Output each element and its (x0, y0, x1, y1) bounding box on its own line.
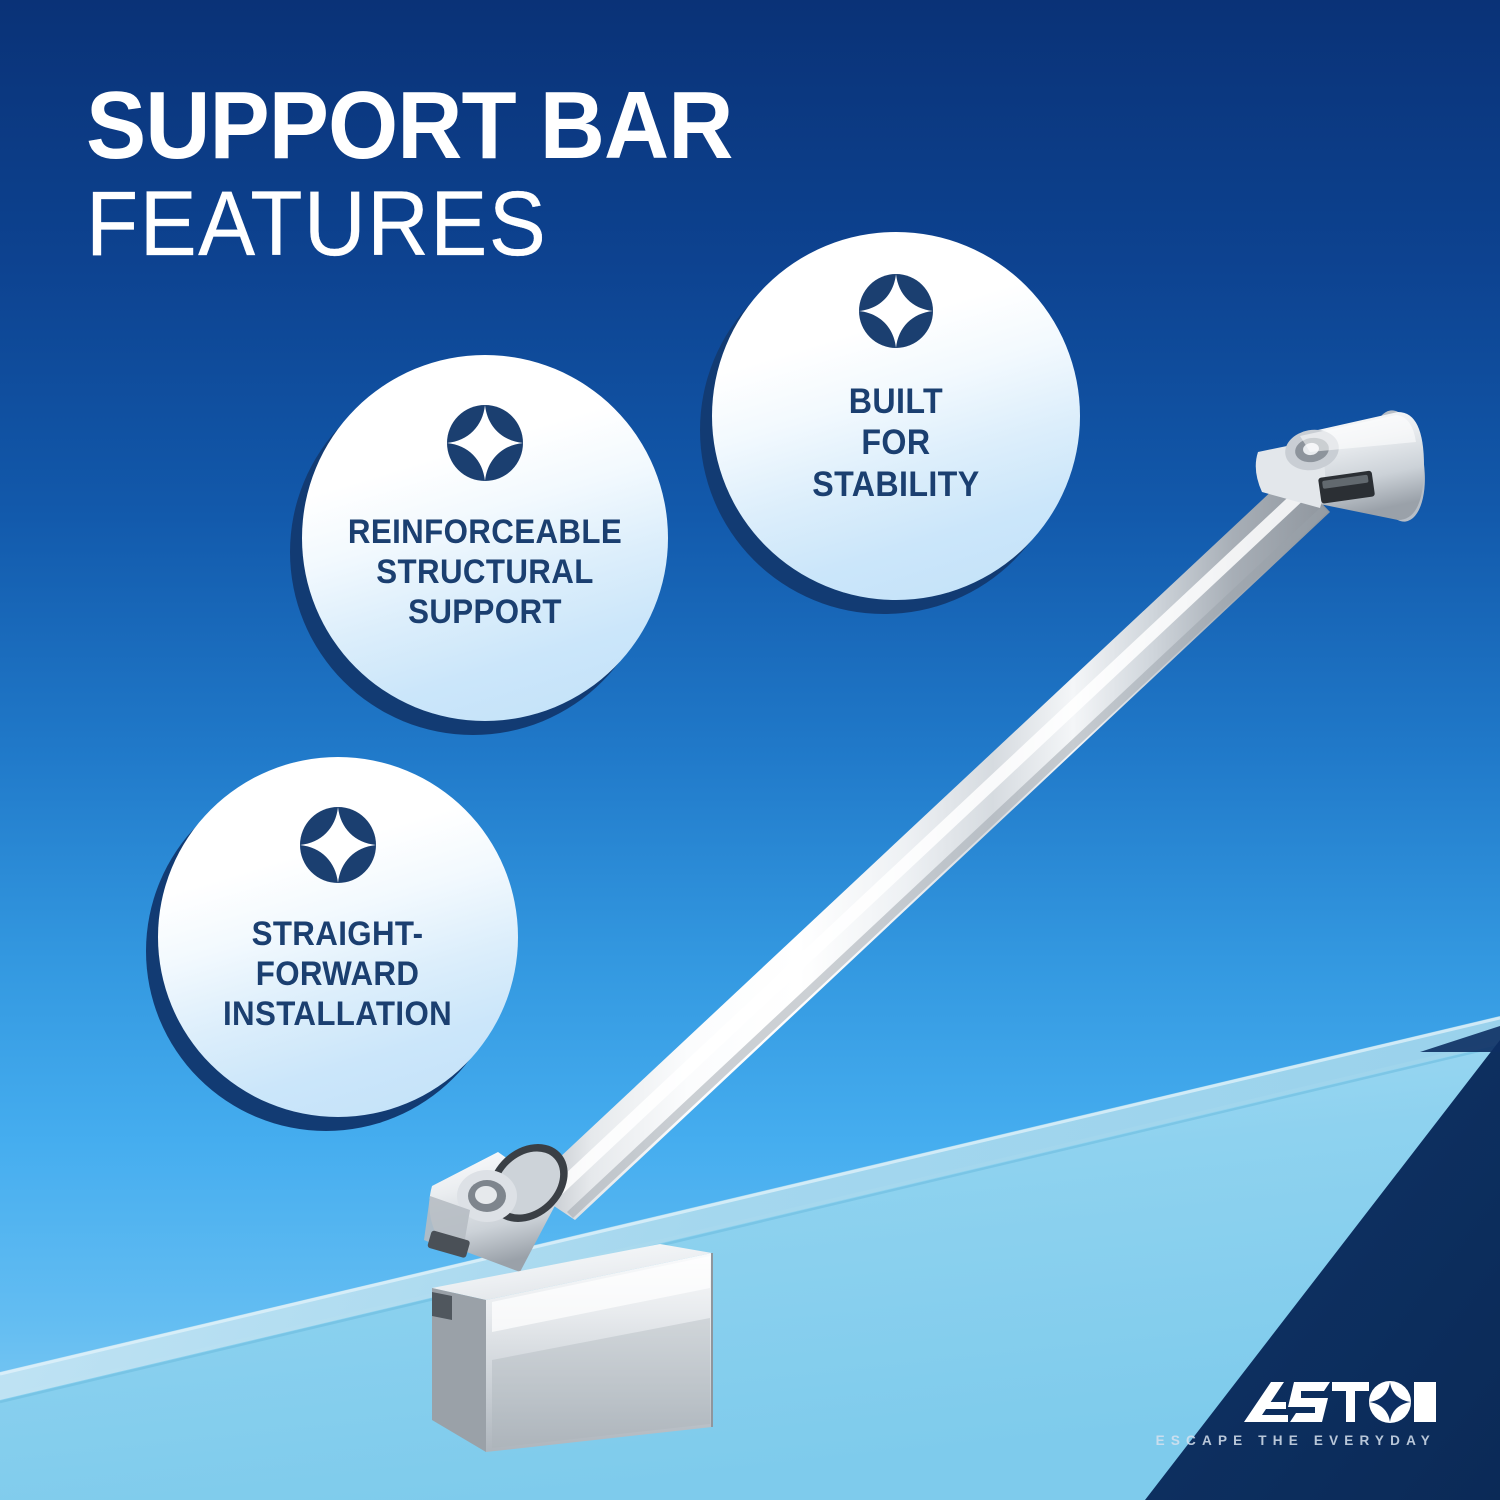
feature-label: REINFORCEABLE STRUCTURAL SUPPORT (348, 512, 622, 632)
brand-logo[interactable]: ESCAPE THE EVERYDAY (1156, 1380, 1438, 1448)
four-point-star-icon (447, 405, 523, 486)
feature-label: STRAIGHT- FORWARD INSTALLATION (223, 914, 452, 1034)
page-title: SUPPORT BAR FEATURES (86, 78, 774, 272)
four-point-star-icon (300, 807, 376, 888)
four-point-star-icon (859, 274, 933, 353)
infographic-canvas: SUPPORT BAR FEATURES BUILT FOR STABILITY (0, 0, 1500, 1500)
aston-wordmark (1156, 1380, 1438, 1437)
brand-tagline: ESCAPE THE EVERYDAY (1156, 1433, 1436, 1448)
title-line-primary: SUPPORT BAR (86, 78, 732, 174)
feature-label: BUILT FOR STABILITY (812, 381, 979, 505)
feature-bubble-straightforward-installation[interactable]: STRAIGHT- FORWARD INSTALLATION (158, 757, 518, 1117)
feature-bubble-built-for-stability[interactable]: BUILT FOR STABILITY (712, 232, 1080, 600)
feature-bubble-reinforceable-structural-support[interactable]: REINFORCEABLE STRUCTURAL SUPPORT (302, 355, 668, 721)
title-line-secondary: FEATURES (86, 178, 726, 272)
